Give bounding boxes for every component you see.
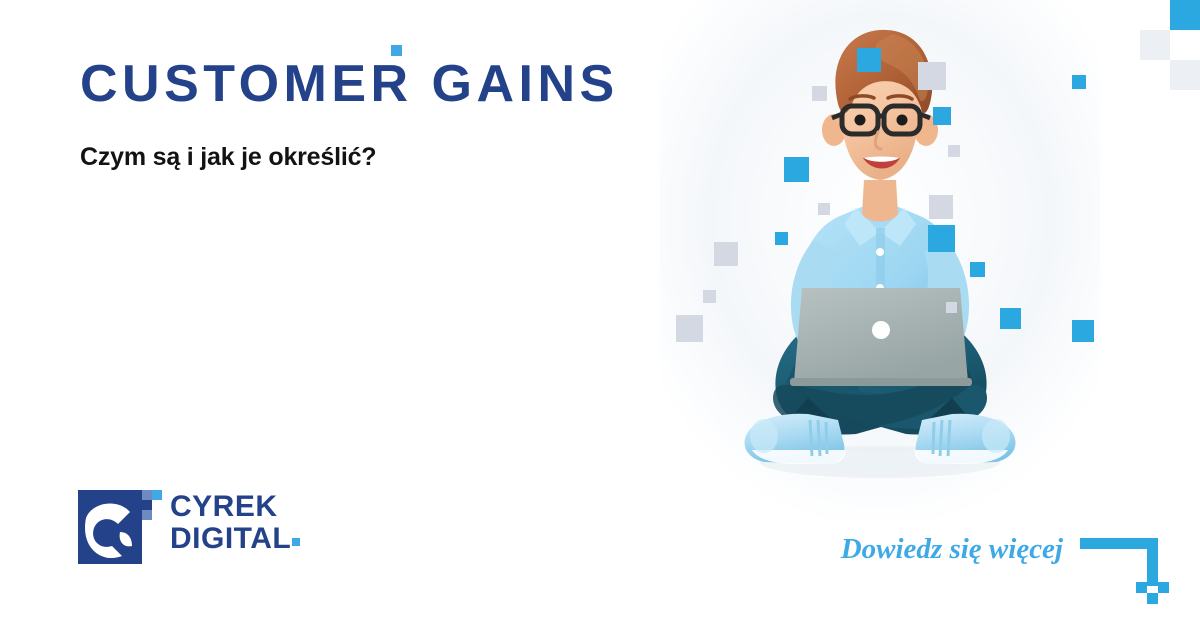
floating-square [1072,320,1094,342]
logo-wordmark: CYREK DIGITAL [170,491,291,555]
hero-illustration [660,0,1100,520]
logo-line-1: CYREK [170,491,291,523]
floating-square [948,145,960,157]
floating-square [857,48,881,72]
headline-accent-square [391,45,402,56]
headline-block: CUSTOMER GAINS [80,58,619,110]
floating-square [775,232,788,245]
logo-swoosh-icon [78,490,142,564]
floating-square [714,242,738,266]
floating-square [933,107,951,125]
corner-square-gray-1 [1140,30,1170,60]
floating-square [929,195,953,219]
floating-square [970,262,985,277]
page-subtitle: Czym są i jak je określić? [80,142,376,172]
floating-square [1000,308,1021,329]
corner-square-gray-2 [1170,60,1200,90]
brand-logo[interactable]: CYREK DIGITAL [78,482,291,564]
page-title: CUSTOMER GAINS [80,58,619,110]
corner-bracket-decoration [1080,516,1200,606]
floating-square [818,203,830,215]
cyrek-digital-logo-mark [78,482,156,564]
laptop [790,288,972,386]
floating-square [812,86,827,101]
floating-square [946,302,957,313]
floating-square [703,290,716,303]
floating-square [676,315,703,342]
cta-text[interactable]: Dowiedz się więcej [841,533,1063,566]
floating-square [784,157,809,182]
floating-square [918,62,946,90]
corner-square-blue [1170,0,1200,30]
right-sneaker [915,414,1016,464]
logo-accent-square [292,538,300,546]
logo-line-2: DIGITAL [170,523,291,555]
banner-canvas: CUSTOMER GAINS Czym są i jak je określić… [0,0,1200,628]
floating-square [928,225,955,252]
floating-square [1072,75,1086,89]
headline-text: CUSTOMER GAINS [80,55,619,113]
left-sneaker [745,414,846,464]
